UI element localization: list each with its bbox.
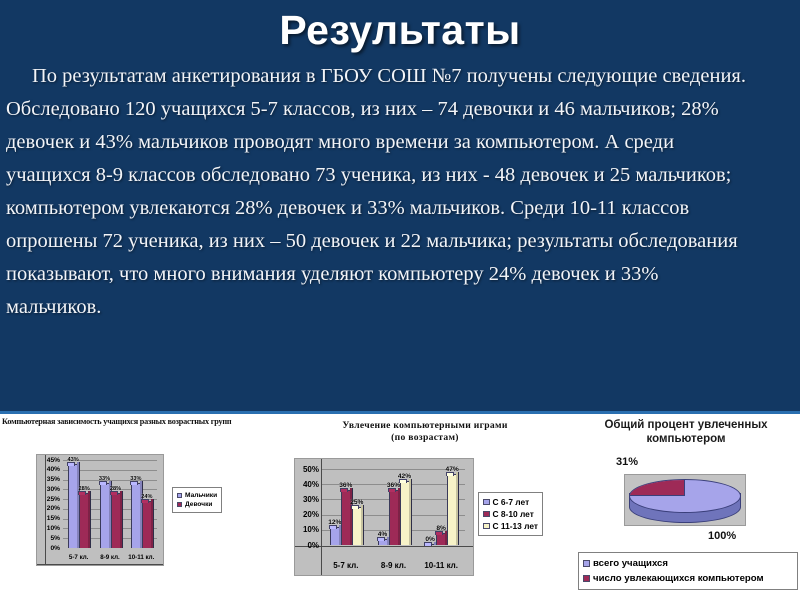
y-axis-tick-label: 45%	[37, 457, 60, 464]
chart-2-title-line2: (по возрастам)	[282, 432, 568, 444]
bar	[111, 493, 121, 548]
bar	[352, 507, 362, 545]
legend-swatch-icon	[177, 502, 182, 507]
chart-panel-computer-dependence: Компьютерная зависимость учащихся разных…	[0, 414, 280, 600]
pie-slice-engaged	[630, 480, 685, 496]
x-axis-tick-label: 10-11 кл.	[411, 561, 471, 571]
y-axis-tick-label: 30%	[295, 496, 319, 503]
legend-swatch-icon	[483, 511, 490, 518]
pie-label-total: 100%	[708, 530, 736, 542]
legend-item: всего учащихся	[583, 556, 793, 571]
slide-body-text: По результатам анкетирования в ГБОУ СОШ …	[6, 60, 746, 324]
y-axis-tick-label: 40%	[295, 481, 319, 488]
bar-value-label: 33%	[96, 476, 114, 482]
slide: Результаты По результатам анкетирования …	[0, 0, 800, 600]
y-axis-tick-label: 15%	[37, 515, 60, 522]
chart-3-title-line1: Общий процент увлеченных	[572, 418, 800, 432]
bar	[389, 490, 399, 545]
bar	[330, 527, 340, 545]
legend-item: число увлекающихся компьютером	[583, 571, 793, 586]
chart-2-plot-area: 50%40%30%20%10%0%12%36%25%5-7 кл.4%36%42…	[294, 458, 474, 576]
legend-item: С 11-13 лет	[483, 520, 538, 532]
x-axis-tick-label: 10-11 кл.	[120, 554, 163, 562]
legend-item: С 8-10 лет	[483, 508, 538, 520]
bar	[378, 539, 388, 545]
legend-label: Девочки	[185, 500, 212, 509]
bar	[436, 533, 446, 545]
y-axis-tick-label: 20%	[295, 511, 319, 518]
y-axis-tick-label: 20%	[37, 505, 60, 512]
bar-value-label: 43%	[64, 457, 82, 463]
bar	[447, 474, 457, 545]
pie-label-engaged: 31%	[616, 456, 638, 468]
chart-1-plot-area: 45%40%35%30%25%20%15%10%5%0%43%28%5-7 кл…	[36, 454, 164, 566]
y-axis-tick-label: 35%	[37, 476, 60, 483]
pie-3d-top	[629, 479, 741, 513]
y-axis-tick-label: 50%	[295, 466, 319, 473]
bar-value-label: 28%	[107, 486, 125, 492]
legend-label: число увлекающихся компьютером	[593, 571, 764, 586]
bar-value-label: 28%	[75, 486, 93, 492]
legend-swatch-icon	[483, 523, 490, 530]
bar-side-face	[456, 472, 459, 545]
legend-label: С 6-7 лет	[493, 496, 530, 508]
bar	[68, 464, 78, 548]
chart-1-title: Компьютерная зависимость учащихся разных…	[2, 417, 278, 427]
chart-3-legend: всего учащихся число увлекающихся компью…	[578, 552, 798, 590]
chart-1-legend: Мальчики Девочки	[172, 487, 222, 513]
bar-side-face	[88, 491, 91, 548]
y-axis-tick-label: 10%	[295, 526, 319, 533]
bar	[400, 481, 410, 545]
bar-side-face	[409, 479, 412, 545]
chart-2-title: Увлечение компьютерными играми (по возра…	[282, 420, 568, 444]
slide-header-region: Результаты По результатам анкетирования …	[0, 0, 800, 414]
page-title: Результаты	[0, 6, 800, 54]
bar-side-face	[361, 505, 364, 545]
chart-panel-overall-percent: Общий процент увлеченных компьютером 31%…	[572, 414, 800, 600]
legend-label: Мальчики	[185, 491, 217, 500]
bar-value-label: 33%	[127, 476, 145, 482]
legend-label: С 11-13 лет	[493, 520, 539, 532]
bar-side-face	[120, 491, 123, 548]
y-axis-tick-label: 40%	[37, 466, 60, 473]
y-axis-tick-label: 10%	[37, 525, 60, 532]
legend-item: Мальчики	[177, 491, 217, 500]
bar-value-label: 42%	[396, 473, 414, 480]
chart-3-title: Общий процент увлеченных компьютером	[572, 418, 800, 446]
legend-item: Девочки	[177, 500, 217, 509]
chart-panel-computer-games: Увлечение компьютерными играми (по возра…	[282, 414, 568, 600]
chart-2-legend: С 6-7 лет С 8-10 лет С 11-13 лет	[478, 492, 543, 536]
bar-value-label: 25%	[348, 499, 366, 506]
chart-2-title-line1: Увлечение компьютерными играми	[282, 420, 568, 432]
legend-swatch-icon	[583, 575, 590, 582]
y-axis-tick-label: 0%	[37, 545, 60, 552]
chart-3-title-line2: компьютером	[572, 432, 800, 446]
legend-label: С 8-10 лет	[493, 508, 534, 520]
bar	[142, 501, 152, 548]
y-axis-tick-label: 5%	[37, 535, 60, 542]
chart-3-pie	[624, 474, 746, 526]
bar	[425, 544, 435, 545]
charts-region: Компьютерная зависимость учащихся разных…	[0, 414, 800, 600]
y-axis-tick-label: 0%	[295, 542, 319, 549]
bar	[100, 483, 110, 548]
chart-1-x-axis	[37, 564, 163, 565]
bar-side-face	[151, 499, 154, 548]
legend-label: всего учащихся	[593, 556, 668, 571]
bar	[79, 493, 89, 548]
bar-value-label: 24%	[138, 494, 156, 500]
legend-swatch-icon	[177, 493, 182, 498]
legend-swatch-icon	[483, 499, 490, 506]
y-axis-tick-label: 30%	[37, 486, 60, 493]
legend-swatch-icon	[583, 560, 590, 567]
bar-value-label: 36%	[337, 482, 355, 489]
y-axis-tick-label: 25%	[37, 496, 60, 503]
chart-2-y-axis	[321, 459, 322, 575]
bar-value-label: 47%	[443, 466, 461, 473]
chart-2-x-axis	[295, 546, 473, 547]
legend-item: С 6-7 лет	[483, 496, 538, 508]
